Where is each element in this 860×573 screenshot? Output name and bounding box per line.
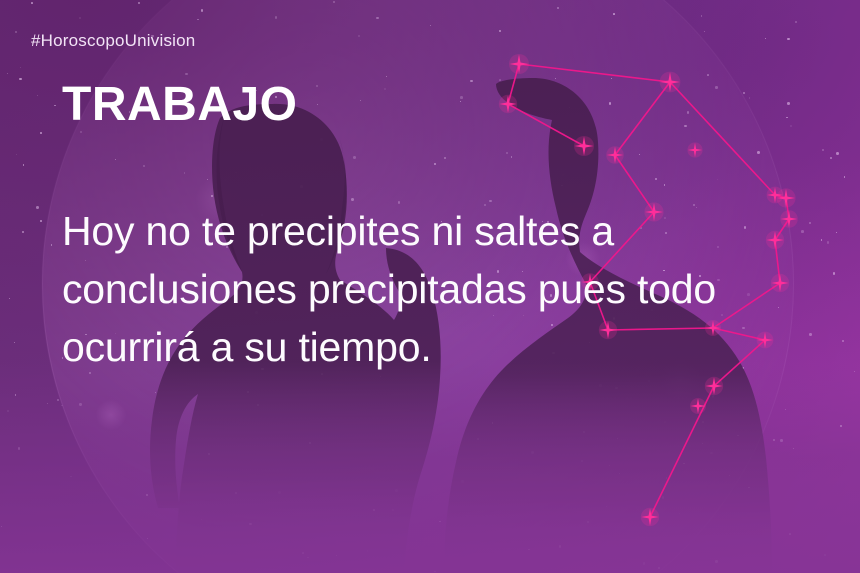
constellation-star <box>509 54 529 74</box>
constellation-star <box>687 142 702 157</box>
hashtag-label: #HoroscopoUnivision <box>31 31 195 51</box>
constellation-line <box>508 104 584 146</box>
horoscope-card: #HoroscopoUnivision TRABAJO Hoy no te pr… <box>0 0 860 573</box>
horoscope-body-text: Hoy no te precipites ni saltes a conclus… <box>62 203 802 376</box>
constellation-line <box>615 82 670 155</box>
constellation-line <box>670 82 775 195</box>
constellation-star <box>705 377 723 395</box>
page-title: TRABAJO <box>62 80 298 130</box>
constellation-line <box>519 64 670 82</box>
constellation-star <box>606 146 624 164</box>
constellation-star <box>574 136 594 156</box>
constellation-star <box>660 72 681 93</box>
constellation-star <box>641 508 659 526</box>
constellation-star <box>690 398 706 414</box>
constellation-star <box>499 95 517 113</box>
